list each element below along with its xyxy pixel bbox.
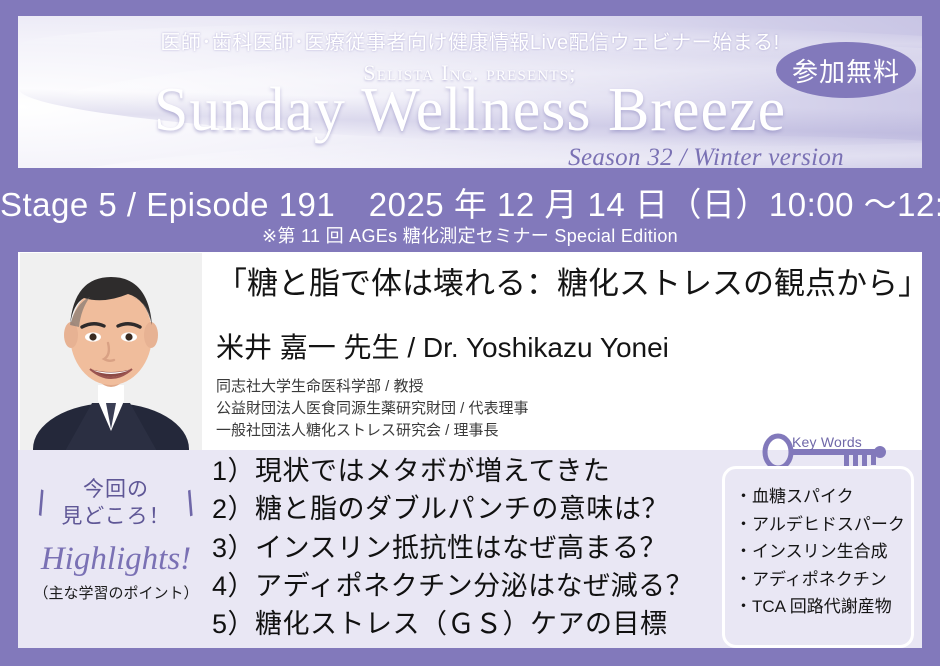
date-sub: ※第 11 回 AGEs 糖化測定セミナー Special Edition: [0, 222, 940, 248]
agenda-item: 2）糖と脂のダブルパンチの意味は？: [212, 490, 712, 528]
header-season: Season 32 / Winter version: [568, 144, 844, 168]
affiliation-line: 公益財団法人医食同源生薬研究財団 / 代表理事: [216, 398, 916, 420]
agenda-list: 1）現状ではメタボが増えてきた 2）糖と脂のダブルパンチの意味は？ 3）インスリ…: [212, 452, 712, 644]
keywords-panel: ・血糖スパイク ・アルデヒドスパーク ・インスリン生合成 ・アディポネクチン ・…: [722, 466, 914, 648]
speaker-name: 米井 嘉一 先生 / Dr. Yoshikazu Yonei: [216, 326, 916, 366]
highlights-sub: （主な学習のポイント）: [24, 582, 208, 603]
agenda-item: 3）インスリン抵抗性はなぜ高まる？: [212, 529, 712, 567]
keywords-label: Key Words: [792, 434, 862, 450]
highlights-en: Highlights!: [24, 541, 208, 578]
highlights-badge: \ / 今回の 見どころ！ Highlights! （主な学習のポイント）: [24, 458, 208, 644]
keyword-item: ・アディポネクチン: [735, 566, 911, 594]
keyword-item: ・アルデヒドスパーク: [735, 511, 911, 539]
keyword-item: ・血糖スパイク: [735, 483, 911, 511]
keywords-list: ・血糖スパイク ・アルデヒドスパーク ・インスリン生合成 ・アディポネクチン ・…: [735, 483, 911, 621]
affiliation-line: 同志社大学生命医科学部 / 教授: [216, 376, 916, 398]
keyword-item: ・TCA 回路代謝産物: [735, 593, 911, 621]
talk-title: 「糖と脂で体は壊れる：糖化ストレスの観点から」: [216, 258, 916, 303]
keyword-item: ・インスリン生合成: [735, 538, 911, 566]
page-title: Sunday Wellness Breeze: [18, 78, 922, 143]
webinar-poster: 医師･歯科医師･医療従事者向け健康情報Live配信ウェビナー始まる! Selis…: [0, 0, 940, 666]
header-tagline: 医師･歯科医師･医療従事者向け健康情報Live配信ウェビナー始まる!: [18, 26, 922, 55]
free-participation-badge: 参加無料: [776, 42, 916, 98]
date-bar: Stage 5 / Episode 191 2025 年 12 月 14 日（日…: [0, 174, 940, 252]
agenda-item: 5）糖化ストレス（ＧＳ）ケアの目標: [212, 605, 712, 643]
date-main: Stage 5 / Episode 191 2025 年 12 月 14 日（日…: [0, 178, 940, 226]
speaker-photo: [20, 253, 202, 453]
highlights-jp-line2: 見どころ！: [24, 503, 208, 530]
highlights-jp: \ / 今回の 見どころ！: [24, 476, 208, 531]
agenda-item: 1）現状ではメタボが増えてきた: [212, 452, 712, 490]
agenda-item: 4）アディポネクチン分泌はなぜ減る？: [212, 567, 712, 605]
header-banner: 医師･歯科医師･医療従事者向け健康情報Live配信ウェビナー始まる! Selis…: [18, 16, 922, 168]
